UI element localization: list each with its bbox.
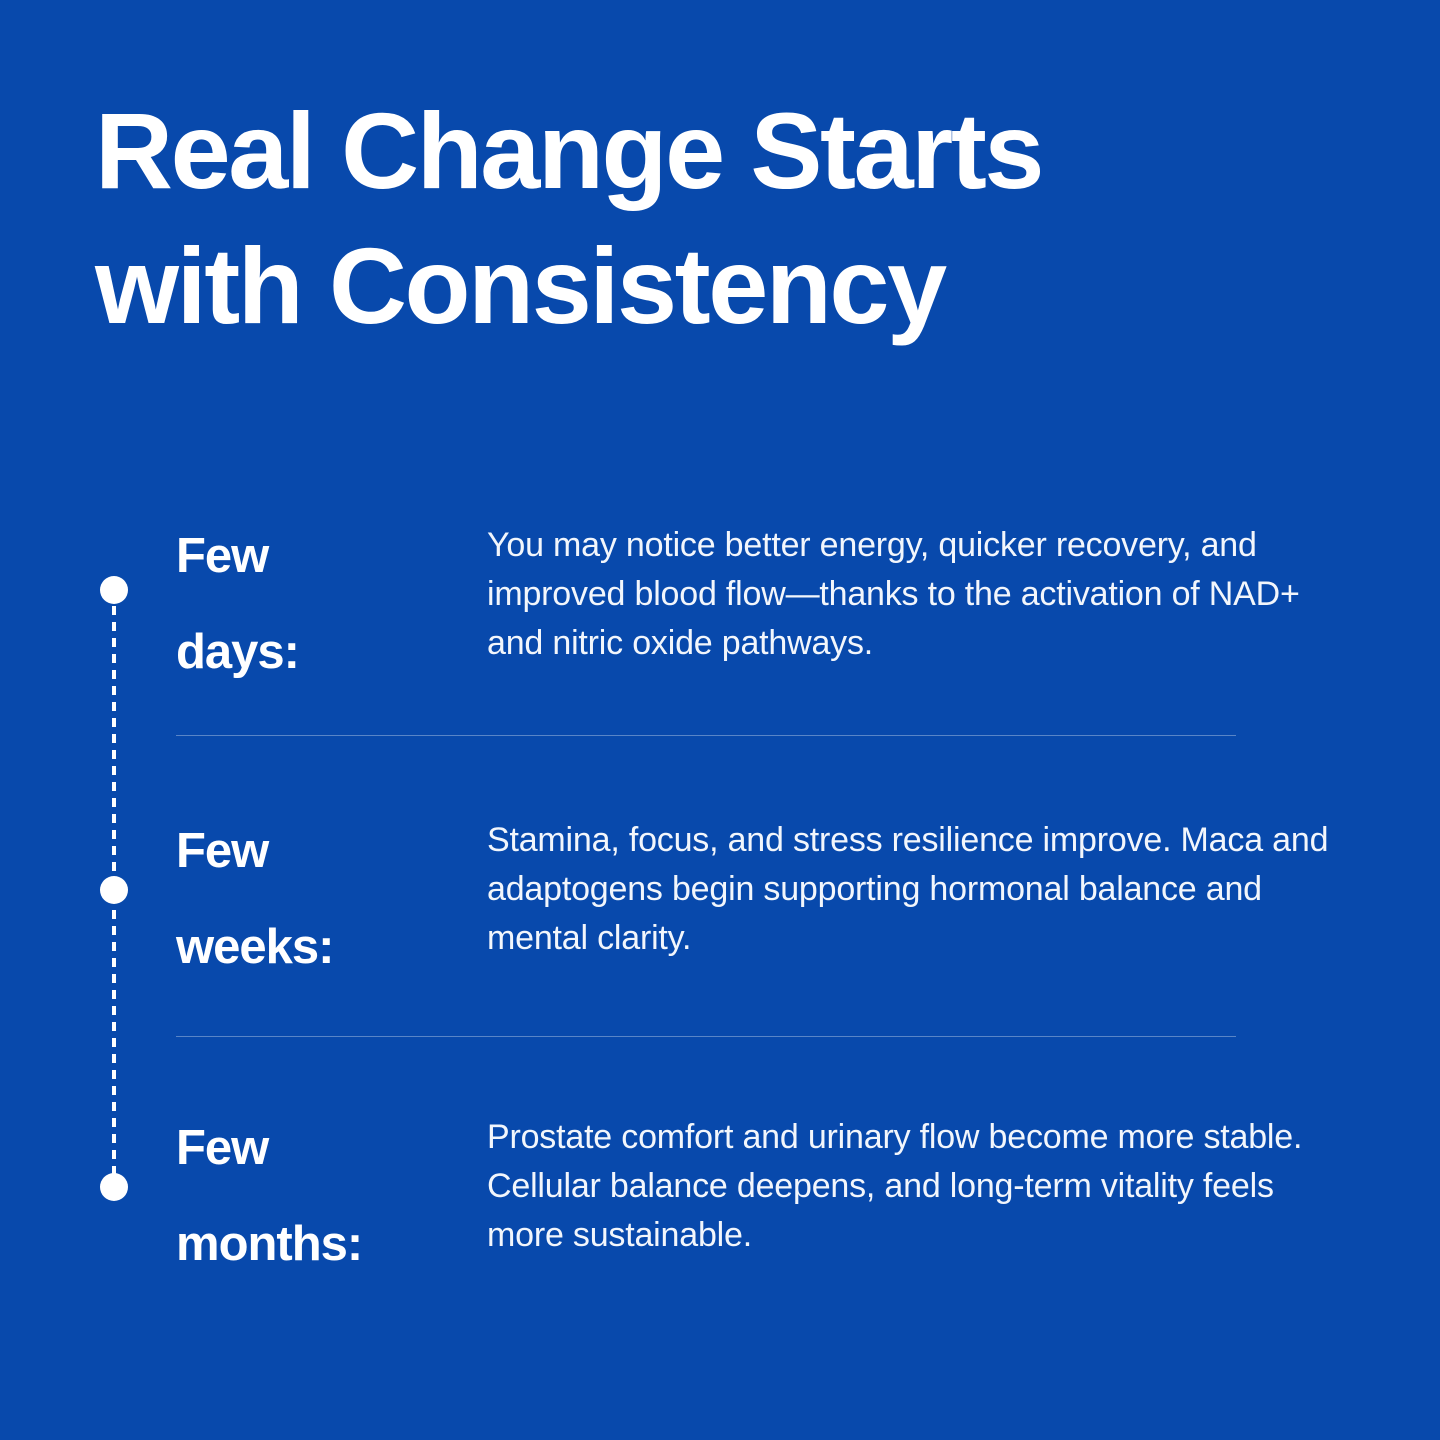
timeline-item-few-months: Few months: Prostate comfort and urinary… bbox=[176, 1100, 1356, 1292]
timeline-item-description: Stamina, focus, and stress resilience im… bbox=[487, 803, 1356, 963]
timeline-item-label: Few days: bbox=[176, 508, 487, 700]
timeline-divider-1 bbox=[176, 735, 1236, 736]
timeline: Few days: You may notice better energy, … bbox=[0, 0, 1440, 1440]
timeline-item-label: Few weeks: bbox=[176, 803, 487, 995]
timeline-item-label: Few months: bbox=[176, 1100, 487, 1292]
timeline-item-description: You may notice better energy, quicker re… bbox=[487, 508, 1356, 668]
timeline-marker-dot-3 bbox=[100, 1173, 128, 1201]
timeline-item-few-days: Few days: You may notice better energy, … bbox=[176, 508, 1356, 700]
timeline-marker-dot-2 bbox=[100, 876, 128, 904]
timeline-item-few-weeks: Few weeks: Stamina, focus, and stress re… bbox=[176, 803, 1356, 995]
timeline-divider-2 bbox=[176, 1036, 1236, 1037]
timeline-marker-dot-1 bbox=[100, 576, 128, 604]
promo-poster: Real Change Starts with Consistency Few … bbox=[0, 0, 1440, 1440]
timeline-item-description: Prostate comfort and urinary flow become… bbox=[487, 1100, 1356, 1260]
